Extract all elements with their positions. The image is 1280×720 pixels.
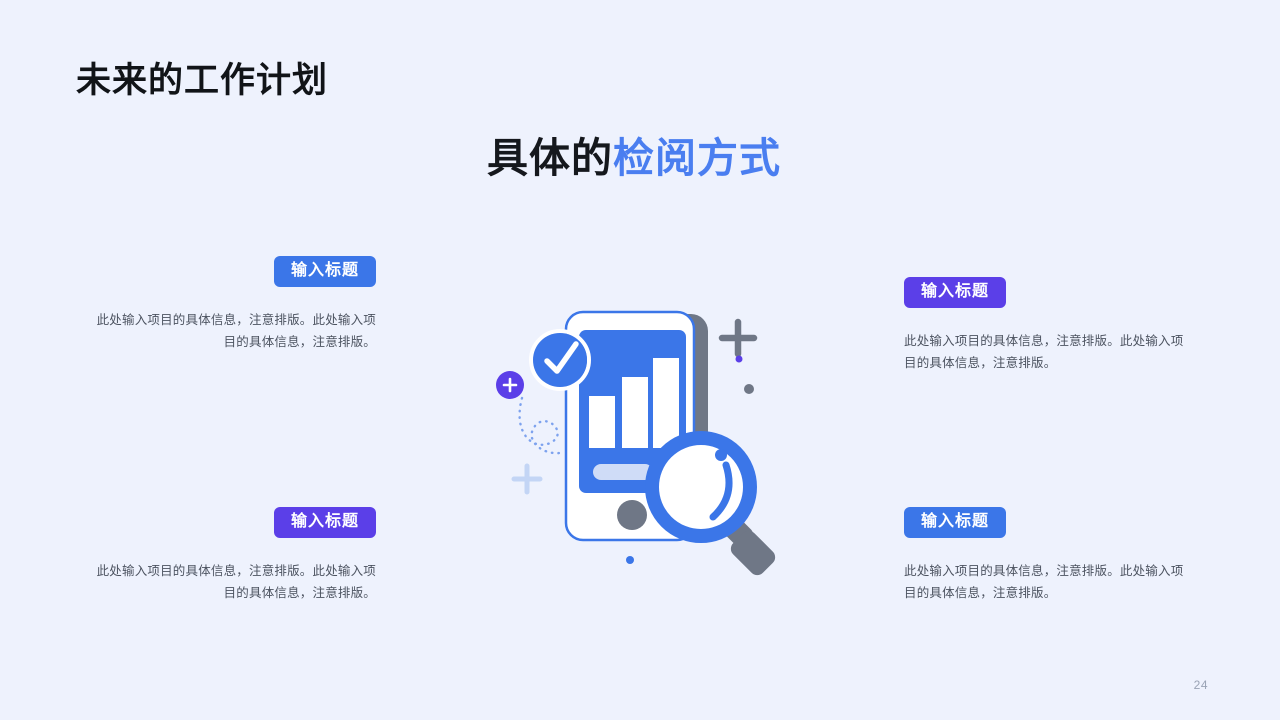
chart-bar-3 [653,358,679,448]
chart-bar-1 [589,396,615,448]
badge-wrapper: 输入标题 [96,507,376,538]
body-text-top-right: 此处输入项目的具体信息，注意排版。此处输入项目的具体信息，注意排版。 [904,330,1184,375]
badge-top-left[interactable]: 输入标题 [274,256,376,287]
content-block-top-right: 输入标题 此处输入项目的具体信息，注意排版。此处输入项目的具体信息，注意排版。 [904,277,1184,375]
phone-home-button [617,500,647,530]
main-heading-accent-part: 检阅方式 [613,135,781,181]
content-block-bottom-left: 输入标题 此处输入项目的具体信息，注意排版。此处输入项目的具体信息，注意排版。 [96,507,376,605]
screen-pill-bar [593,464,653,480]
badge-wrapper: 输入标题 [96,256,376,287]
main-heading: 具体的检阅方式 [487,124,781,184]
main-heading-dark-part: 具体的 [487,135,613,181]
content-block-bottom-right: 输入标题 此处输入项目的具体信息，注意排版。此处输入项目的具体信息，注意排版。 [904,507,1184,605]
badge-bottom-left[interactable]: 输入标题 [274,507,376,538]
badge-bottom-right[interactable]: 输入标题 [904,507,1006,538]
body-text-top-left: 此处输入项目的具体信息，注意排版。此处输入项目的具体信息，注意排版。 [96,309,376,354]
dotted-curve [520,398,560,453]
magnifier-glare-dot [715,449,727,461]
plus-icon-gray [722,322,754,354]
page-number: 24 [1194,678,1208,692]
badge-wrapper: 输入标题 [904,277,1184,308]
plus-icon-lightblue [514,466,540,492]
body-text-bottom-left: 此处输入项目的具体信息，注意排版。此处输入项目的具体信息，注意排版。 [96,560,376,605]
magnifier-lens [652,438,750,536]
content-block-top-left: 输入标题 此处输入项目的具体信息，注意排版。此处输入项目的具体信息，注意排版。 [96,256,376,354]
accent-dot-gray [744,384,754,394]
checkmark-badge [533,333,587,387]
mobile-analytics-review-illustration [480,300,800,590]
accent-dot-purple [736,356,743,363]
badge-top-right[interactable]: 输入标题 [904,277,1006,308]
body-text-bottom-right: 此处输入项目的具体信息，注意排版。此处输入项目的具体信息，注意排版。 [904,560,1184,605]
badge-wrapper: 输入标题 [904,507,1184,538]
accent-dot-blue [626,556,634,564]
slide-title: 未来的工作计划 [76,52,328,103]
chart-bar-2 [622,377,648,448]
